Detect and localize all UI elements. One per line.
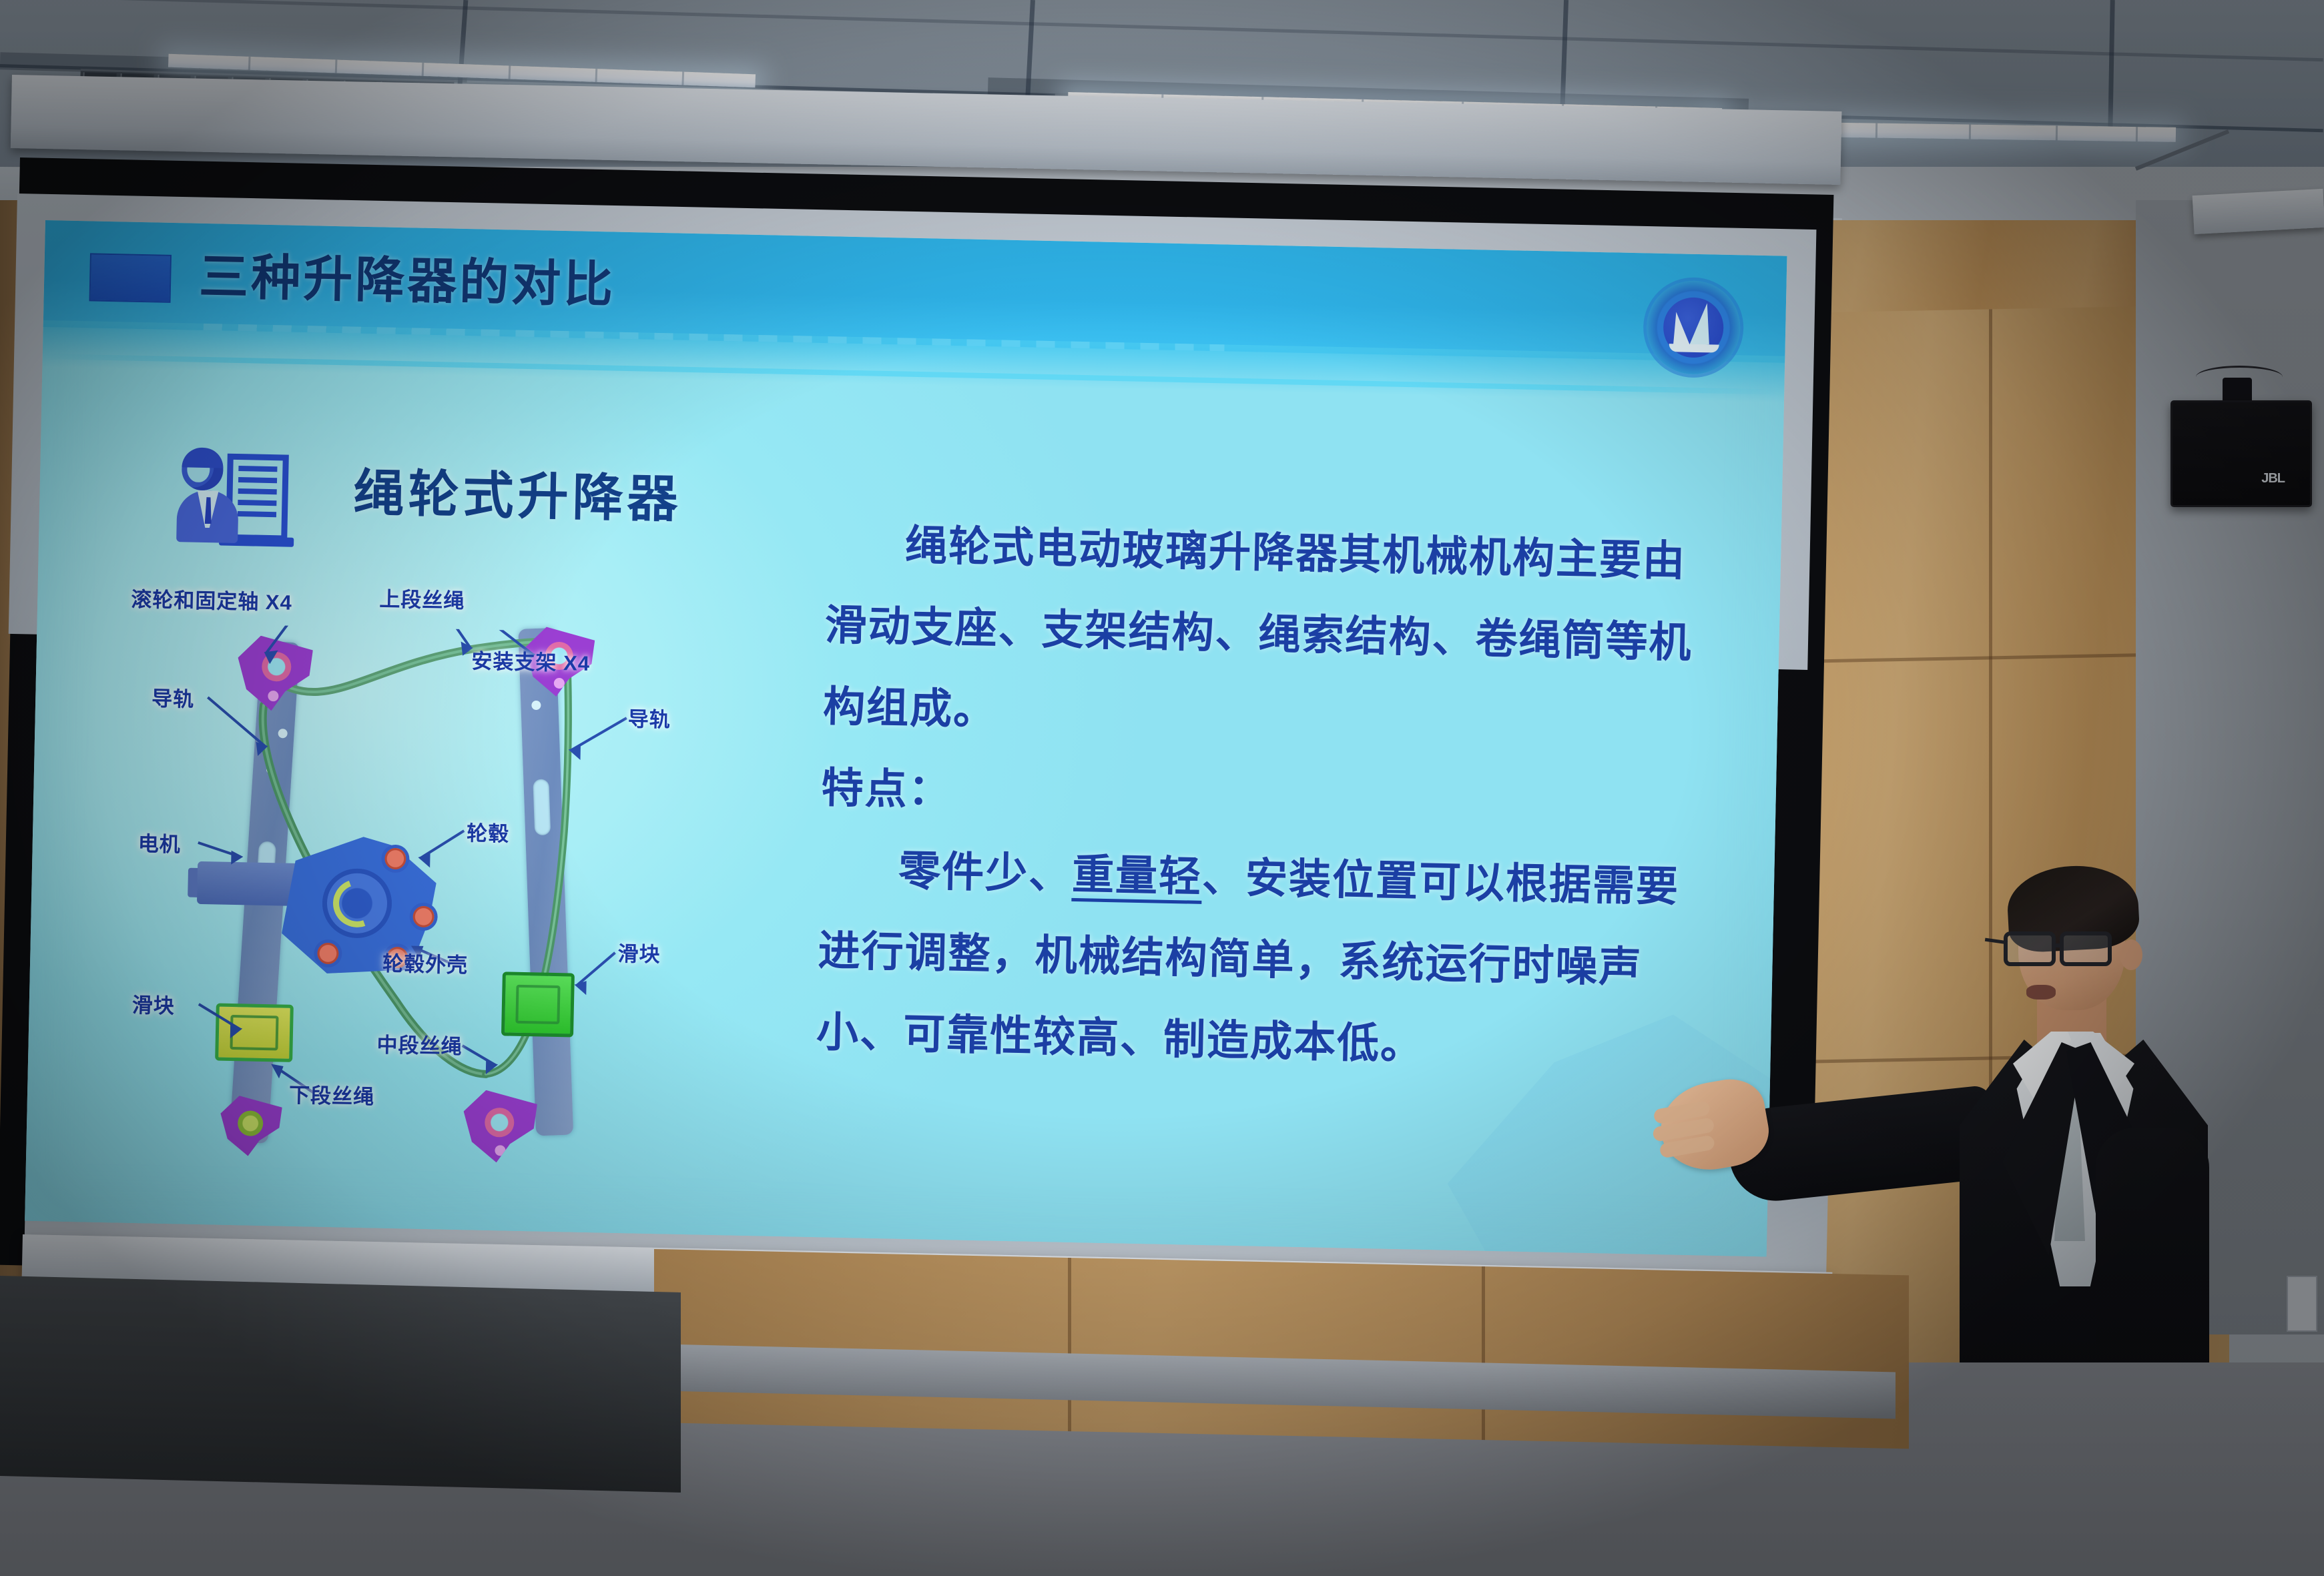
- diagram-label-motor: 电机: [137, 827, 181, 857]
- slide-body-text: 绳轮式电动玻璃升降器其机械机构主要由滑动支座、支架结构、绳索结构、卷绳筒等机构组…: [816, 503, 1721, 1091]
- diagram-leader-lines: [111, 623, 831, 1224]
- p2-underlined: 重量轻: [1071, 851, 1203, 904]
- presenter-mouth: [2026, 985, 2056, 1000]
- presenter-board-icon: [176, 443, 285, 552]
- presentation-slide[interactable]: 三种升降器的对比 绳轮式升降器 绳轮式电动玻璃升降器其机械机构主要由滑动支座、支…: [25, 220, 1787, 1256]
- diagram-label-roller-and-fixed-shaft: 滚轮和固定轴 X4: [131, 582, 292, 616]
- room-scene: JBL 三种升降器的对比 绳轮式升降器: [0, 0, 2324, 1576]
- slide-subtitle: 绳轮式升降器: [353, 460, 683, 534]
- diagram-label-hub-housing: 轮毂外壳: [382, 947, 469, 979]
- diagram-label-guide-rail-left: 导轨: [152, 681, 195, 712]
- diagram-label-slider-right: 滑块: [617, 937, 661, 967]
- mechanism-diagram: 滚轮和固定轴 X4 上段丝绳 安装支架 X4 导轨 导轨 电机 轮毂 滑块 滑块…: [111, 623, 831, 1224]
- diagram-label-upper-cable: 上段丝绳: [379, 582, 465, 614]
- glasses-lens-right: [2060, 931, 2112, 966]
- presenter-glasses: [2004, 931, 2130, 967]
- slide-title: 三种升降器的对比: [198, 240, 616, 323]
- diagram-label-middle-cable: 中段丝绳: [376, 1028, 463, 1060]
- logo-hull-icon: [1669, 344, 1719, 353]
- glasses-lens-left: [2004, 931, 2056, 966]
- diagram-label-mounting-bracket: 安装支架 X4: [471, 644, 590, 677]
- icon-person-hair: [182, 447, 224, 468]
- diagram-label-hub: 轮毂: [467, 816, 510, 847]
- p2-pre: 零件少、: [898, 848, 1072, 898]
- diagram-label-slider-left: 滑块: [131, 988, 175, 1019]
- body-paragraph-2: 零件少、重量轻、安装位置可以根据需要进行调整，机械结构简单，系统运行时噪声小、可…: [816, 829, 1715, 1092]
- diagram-label-lower-cable: 下段丝绳: [289, 1078, 375, 1110]
- speaker-brand-badge: JBL: [2261, 471, 2285, 486]
- body-paragraph-1: 绳轮式电动玻璃升降器其机械机构主要由滑动支座、支架结构、绳索结构、卷绳筒等机构组…: [822, 503, 1721, 766]
- diagram-label-guide-rail-right: 导轨: [627, 702, 671, 733]
- logo-sail-jib-icon: [1673, 312, 1693, 346]
- projector: [2193, 189, 2324, 234]
- slide-title-bullet-square: [89, 253, 172, 302]
- wall-speaker: JBL: [2170, 400, 2312, 507]
- dark-foreground-base: [0, 1276, 681, 1493]
- glasses-bridge: [2054, 943, 2062, 947]
- wall-outlet: [2287, 1276, 2317, 1332]
